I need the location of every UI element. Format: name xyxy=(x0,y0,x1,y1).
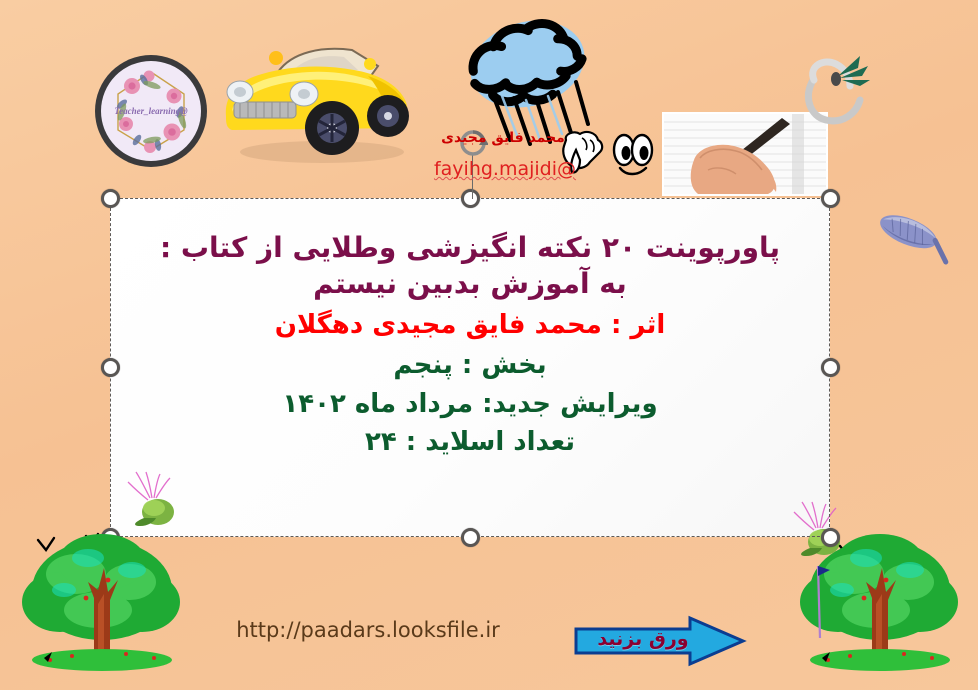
yellow-sports-car-icon xyxy=(218,24,416,170)
rain-cloud-icon xyxy=(448,6,608,146)
slide-line-count: تعداد اسلاید : ۲۴ xyxy=(110,426,830,460)
selection-handle-top-left[interactable] xyxy=(101,189,120,208)
leaf-ring-icon xyxy=(798,52,890,126)
green-bird-left-icon xyxy=(124,468,186,530)
author-email-overlay: fayihg.majidi@ xyxy=(420,158,590,180)
tree-right-icon xyxy=(792,524,967,684)
next-slide-label: ورق بزنید xyxy=(584,628,702,650)
floral-badge-icon: @Teacher_learning xyxy=(92,52,210,170)
slide-text-block: پاورپوینت ۲۰ نکته انگیزشی وطلایی از کتاب… xyxy=(110,230,830,460)
cartoon-eyes-icon xyxy=(608,130,660,178)
blue-feather-icon xyxy=(872,210,954,268)
slide-line-part: بخش : پنجم xyxy=(110,349,830,383)
author-name-overlay: محمد فایق مجیدی xyxy=(428,130,578,146)
slide-line-author: اثر : محمد فایق مجیدی دهگلان xyxy=(110,309,830,343)
selection-handle-middle-right[interactable] xyxy=(821,358,840,377)
selection-handle-bottom-center[interactable] xyxy=(461,528,480,547)
selection-handle-middle-left[interactable] xyxy=(101,358,120,377)
selection-handle-top-center[interactable] xyxy=(461,189,480,208)
next-slide-button[interactable]: ورق بزنید xyxy=(572,615,747,667)
selection-handle-top-right[interactable] xyxy=(821,189,840,208)
slide-line-book: به آموزش بدبین نیستم xyxy=(110,266,830,302)
tree-left-icon xyxy=(14,524,189,684)
slide-canvas: @Teacher_learning xyxy=(0,0,978,690)
slide-line-edition: ویرایش جدید: مرداد ماه ۱۴۰۲ xyxy=(110,388,830,422)
badge-handle-text: @Teacher_learning xyxy=(114,106,188,116)
slide-line-title: پاورپوینت ۲۰ نکته انگیزشی وطلایی از کتاب… xyxy=(110,230,830,266)
source-url[interactable]: http://paadars.looksfile.ir xyxy=(218,618,518,642)
